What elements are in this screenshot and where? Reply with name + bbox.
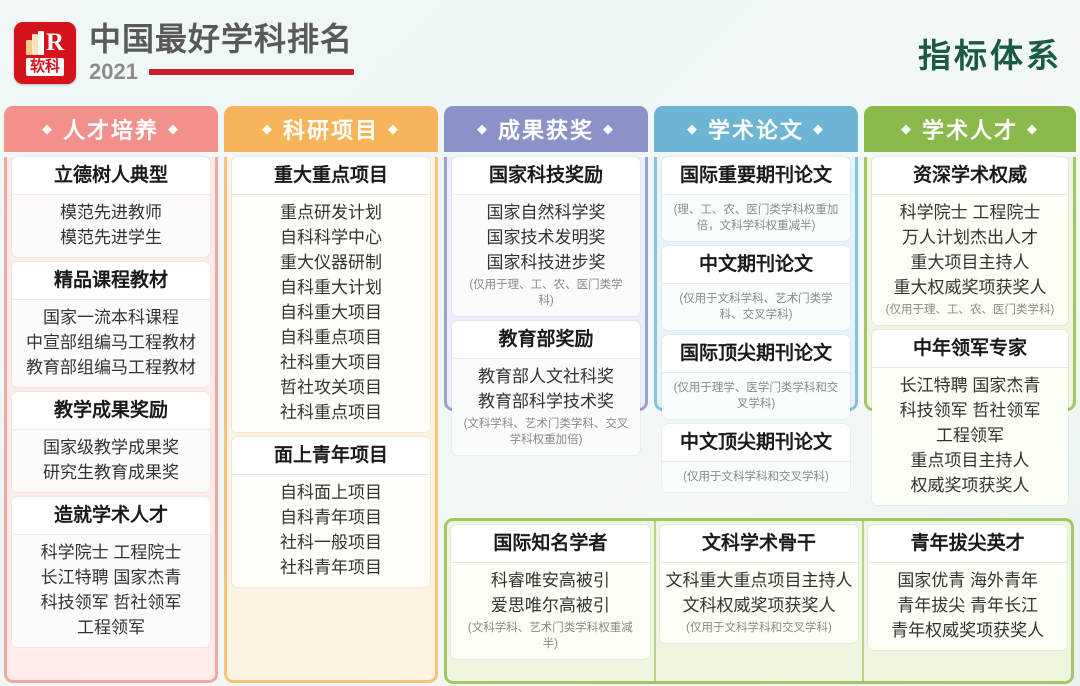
indicator-card[interactable]: 精品课程教材国家一流本科课程中宣部组编马工程教材教育部组编马工程教材 [12,262,210,387]
indicator-item: 重大仪器研制 [236,250,426,275]
indicator-note: (仅用于文科学科和交叉学科) [666,467,846,485]
indicator-item: 青年拔尖 青年长江 [872,593,1063,618]
indicator-card[interactable]: 文科学术骨干文科重大重点项目主持人文科权威奖项获奖人(仅用于文科学科和交叉学科) [660,525,859,643]
indicator-item: 重大权威奖项获奖人 [876,275,1064,300]
indicator-card[interactable]: 资深学术权威科学院士 工程院士万人计划杰出人才重大项目主持人重大权威奖项获奖人(… [872,157,1068,325]
indicator-card[interactable]: 中文期刊论文(仅用于文科学科、艺术门类学科、交叉学科) [662,246,850,330]
indicator-card-title: 国际知名学者 [451,525,650,562]
indicator-card-body: (仅用于文科学科、艺术门类学科、交叉学科) [662,283,850,330]
logo-chinese-name: 软科 [26,58,64,76]
indicator-item: 重大项目主持人 [876,250,1064,275]
indicator-card-body: 科睿唯安高被引爱思唯尔高被引(文科学科、艺术门类学科权重减半) [451,562,650,659]
diamond-icon: ◆ [388,121,400,137]
indicator-item: 国家优青 海外青年 [872,568,1063,593]
indicator-card-body: (仅用于理学、医学门类学科和交叉学科) [662,372,850,419]
indicator-item: 研究生教育成果奖 [16,460,206,485]
indicator-item: 国家一流本科课程 [16,305,206,330]
diamond-icon: ◆ [42,121,54,137]
indicator-item: 科技领军 哲社领军 [16,590,206,615]
indicator-card-title: 造就学术人才 [12,497,210,534]
diamond-icon: ◆ [1027,121,1039,137]
indicator-note: (理、工、农、医门类学科权重加倍，文科学科权重减半) [666,200,846,234]
indicator-card-title: 教育部奖励 [452,321,640,358]
indicator-item: 教育部人文社科奖 [456,364,636,389]
indicator-card-body: 模范先进教师模范先进学生 [12,194,210,257]
diamond-icon: ◆ [477,121,489,137]
indicator-note: (仅用于理学、医学门类学科和交叉学科) [666,378,846,412]
indicator-card-body: 国家级教学成果奖研究生教育成果奖 [12,429,210,492]
indicator-card-body: 文科重大重点项目主持人文科权威奖项获奖人(仅用于文科学科和交叉学科) [660,562,859,643]
indicator-card[interactable]: 重大重点项目重点研发计划自科科学中心重大仪器研制自科重大计划自科重大项目自科重点… [232,157,430,432]
indicator-item: 教育部组编马工程教材 [16,355,206,380]
indicator-card-title: 文科学术骨干 [660,525,859,562]
indicator-card-body: 自科面上项目自科青年项目社科一般项目社科青年项目 [232,474,430,587]
diamond-icon: ◆ [603,121,615,137]
bottom-cell-liberal-arts-backbone: 文科学术骨干文科重大重点项目主持人文科权威奖项获奖人(仅用于文科学科和交叉学科) [654,521,863,681]
indicator-item: 爱思唯尔高被引 [455,593,646,618]
indicator-card-body: 长江特聘 国家杰青科技领军 哲社领军工程领军重点项目主持人权威奖项获奖人 [872,367,1068,505]
indicator-card[interactable]: 立德树人典型模范先进教师模范先进学生 [12,157,210,257]
page-header: R 软科 中国最好学科排名 2021 指标体系 [0,0,1080,106]
indicator-note: (仅用于文科学科、艺术门类学科、交叉学科) [666,289,846,323]
column-header-label: 成果获奖 [498,113,594,145]
indicator-card[interactable]: 中文顶尖期刊论文(仅用于文科学科和交叉学科) [662,424,850,492]
indicator-card[interactable]: 青年拔尖英才国家优青 海外青年青年拔尖 青年长江青年权威奖项获奖人 [868,525,1067,650]
column-header-label: 科研项目 [283,113,379,145]
shanghairanking-logo-icon: R 软科 [14,22,76,84]
diamond-icon: ◆ [813,121,825,137]
indicator-item: 自科青年项目 [236,505,426,530]
indicator-item: 工程领军 [16,615,206,640]
indicator-card[interactable]: 教学成果奖励国家级教学成果奖研究生教育成果奖 [12,392,210,492]
diamond-icon: ◆ [901,121,913,137]
logo-letter: R [46,31,64,55]
indicator-column-award-achievements: ◆成果获奖◆国家科技奖励国家自然科学奖国家技术发明奖国家科技进步奖(仅用于理、工… [444,106,648,411]
column-header-academic-talent[interactable]: ◆学术人才◆ [864,106,1076,152]
indicator-card-title: 重大重点项目 [232,157,430,194]
indicator-card-title: 立德树人典型 [12,157,210,194]
indicator-card-body: (仅用于文科学科和交叉学科) [662,461,850,492]
indicator-card-body: 国家自然科学奖国家技术发明奖国家科技进步奖(仅用于理、工、农、医门类学科) [452,194,640,316]
indicator-column-academic-talent: ◆学术人才◆资深学术权威科学院士 工程院士万人计划杰出人才重大项目主持人重大权威… [864,106,1076,411]
bottom-cell-young-elite: 青年拔尖英才国家优青 海外青年青年拔尖 青年长江青年权威奖项获奖人 [862,521,1071,681]
column-header-label: 人才培养 [63,113,159,145]
column-header-talent-cultivation[interactable]: ◆人才培养◆ [4,106,218,152]
indicator-card-body: 重点研发计划自科科学中心重大仪器研制自科重大计划自科重大项目自科重点项目社科重大… [232,194,430,432]
indicator-card[interactable]: 国际顶尖期刊论文(仅用于理学、医学门类学科和交叉学科) [662,335,850,419]
indicator-card[interactable]: 面上青年项目自科面上项目自科青年项目社科一般项目社科青年项目 [232,437,430,587]
indicator-column-talent-cultivation: ◆人才培养◆立德树人典型模范先进教师模范先进学生精品课程教材国家一流本科课程中宣… [4,106,218,683]
indicator-card[interactable]: 国际知名学者科睿唯安高被引爱思唯尔高被引(文科学科、艺术门类学科权重减半) [451,525,650,659]
indicator-card-title: 中文顶尖期刊论文 [662,424,850,461]
section-title: 指标体系 [918,29,1062,77]
indicator-item: 科睿唯安高被引 [455,568,646,593]
indicator-card-title: 面上青年项目 [232,437,430,474]
column-panel-research-projects: 重大重点项目重点研发计划自科科学中心重大仪器研制自科重大计划自科重大项目自科重点… [224,157,438,683]
indicator-card-title: 中年领军专家 [872,330,1068,367]
indicator-item: 社科青年项目 [236,555,426,580]
column-header-award-achievements[interactable]: ◆成果获奖◆ [444,106,648,152]
bottom-cell-international-scholars: 国际知名学者科睿唯安高被引爱思唯尔高被引(文科学科、艺术门类学科权重减半) [447,521,654,681]
indicator-card-body: 科学院士 工程院士万人计划杰出人才重大项目主持人重大权威奖项获奖人(仅用于理、工… [872,194,1068,325]
indicator-item: 长江特聘 国家杰青 [16,565,206,590]
indicator-item: 国家级教学成果奖 [16,435,206,460]
page-title: 中国最好学科排名 [89,21,354,57]
indicator-card-title: 国际顶尖期刊论文 [662,335,850,372]
indicator-item: 国家自然科学奖 [456,200,636,225]
indicator-card-body: 科学院士 工程院士长江特聘 国家杰青科技领军 哲社领军工程领军 [12,534,210,647]
indicator-board: ◆人才培养◆立德树人典型模范先进教师模范先进学生精品课程教材国家一流本科课程中宣… [0,106,1080,686]
indicator-item: 国家科技进步奖 [456,250,636,275]
indicator-item: 教育部科学技术奖 [456,389,636,414]
indicator-card[interactable]: 中年领军专家长江特聘 国家杰青科技领军 哲社领军工程领军重点项目主持人权威奖项获… [872,330,1068,505]
indicator-item: 哲社攻关项目 [236,375,426,400]
diamond-icon: ◆ [262,121,274,137]
indicator-item: 中宣部组编马工程教材 [16,330,206,355]
column-header-label: 学术人才 [922,113,1018,145]
indicator-card-body: 国家一流本科课程中宣部组编马工程教材教育部组编马工程教材 [12,299,210,387]
indicator-item: 模范先进学生 [16,225,206,250]
indicator-card[interactable]: 国家科技奖励国家自然科学奖国家技术发明奖国家科技进步奖(仅用于理、工、农、医门类… [452,157,640,316]
indicator-item: 国家技术发明奖 [456,225,636,250]
brand-logo: R 软科 中国最好学科排名 2021 [14,21,354,85]
title-year: 2021 [89,59,138,85]
indicator-item: 自科面上项目 [236,480,426,505]
bottom-indicator-band: 国际知名学者科睿唯安高被引爱思唯尔高被引(文科学科、艺术门类学科权重减半)文科学… [444,518,1074,684]
indicator-note: (文科学科、艺术门类学科、交叉学科权重加倍) [456,414,636,448]
indicator-note: (文科学科、艺术门类学科权重减半) [455,618,646,652]
indicator-item: 科学院士 工程院士 [876,200,1064,225]
column-header-academic-papers[interactable]: ◆学术论文◆ [654,106,858,152]
indicator-card-body: 国家优青 海外青年青年拔尖 青年长江青年权威奖项获奖人 [868,562,1067,650]
indicator-item: 长江特聘 国家杰青 [876,373,1064,398]
indicator-item: 科学院士 工程院士 [16,540,206,565]
indicator-item: 文科重大重点项目主持人 [664,568,855,593]
title-block: 中国最好学科排名 2021 [89,21,354,85]
indicator-item: 重点研发计划 [236,200,426,225]
indicator-card-title: 国家科技奖励 [452,157,640,194]
indicator-item: 自科重大计划 [236,275,426,300]
indicator-note: (仅用于理、工、农、医门类学科) [876,300,1064,318]
indicator-column-academic-papers: ◆学术论文◆国际重要期刊论文(理、工、农、医门类学科权重加倍，文科学科权重减半)… [654,106,858,411]
indicator-item: 模范先进教师 [16,200,206,225]
column-panel-academic-talent: 资深学术权威科学院士 工程院士万人计划杰出人才重大项目主持人重大权威奖项获奖人(… [864,157,1076,411]
column-panel-award-achievements: 国家科技奖励国家自然科学奖国家技术发明奖国家科技进步奖(仅用于理、工、农、医门类… [444,157,648,411]
indicator-item: 青年权威奖项获奖人 [872,618,1063,643]
indicator-card-body: 教育部人文社科奖教育部科学技术奖(文科学科、艺术门类学科、交叉学科权重加倍) [452,358,640,455]
indicator-item: 重点项目主持人 [876,448,1064,473]
indicator-card-title: 青年拔尖英才 [868,525,1067,562]
indicator-item: 文科权威奖项获奖人 [664,593,855,618]
column-panel-academic-papers: 国际重要期刊论文(理、工、农、医门类学科权重加倍，文科学科权重减半)中文期刊论文… [654,157,858,411]
column-header-research-projects[interactable]: ◆科研项目◆ [224,106,438,152]
indicator-card[interactable]: 造就学术人才科学院士 工程院士长江特聘 国家杰青科技领军 哲社领军工程领军 [12,497,210,647]
title-rule [149,69,354,75]
indicator-card-title: 中文期刊论文 [662,246,850,283]
indicator-item: 自科科学中心 [236,225,426,250]
logo-bars: R [26,31,64,55]
indicator-item: 工程领军 [876,423,1064,448]
title-subrow: 2021 [89,59,354,85]
indicator-card[interactable]: 教育部奖励教育部人文社科奖教育部科学技术奖(文科学科、艺术门类学科、交叉学科权重… [452,321,640,455]
indicator-card[interactable]: 国际重要期刊论文(理、工、农、医门类学科权重加倍，文科学科权重减半) [662,157,850,241]
indicator-card-title: 教学成果奖励 [12,392,210,429]
diamond-icon: ◆ [687,121,699,137]
column-panel-talent-cultivation: 立德树人典型模范先进教师模范先进学生精品课程教材国家一流本科课程中宣部组编马工程… [4,157,218,683]
indicator-card-title: 资深学术权威 [872,157,1068,194]
indicator-item: 自科重大项目 [236,300,426,325]
indicator-item: 自科重点项目 [236,325,426,350]
indicator-item: 万人计划杰出人才 [876,225,1064,250]
indicator-item: 科技领军 哲社领军 [876,398,1064,423]
indicator-note: (仅用于理、工、农、医门类学科) [456,275,636,309]
indicator-card-body: (理、工、农、医门类学科权重加倍，文科学科权重减半) [662,194,850,241]
indicator-card-title: 精品课程教材 [12,262,210,299]
indicator-card-title: 国际重要期刊论文 [662,157,850,194]
indicator-item: 社科重大项目 [236,350,426,375]
indicator-item: 社科重点项目 [236,400,426,425]
indicator-item: 社科一般项目 [236,530,426,555]
column-header-label: 学术论文 [708,113,804,145]
logo-bar-3 [38,31,44,55]
indicator-column-research-projects: ◆科研项目◆重大重点项目重点研发计划自科科学中心重大仪器研制自科重大计划自科重大… [224,106,438,683]
diamond-icon: ◆ [168,121,180,137]
indicator-item: 权威奖项获奖人 [876,473,1064,498]
indicator-note: (仅用于文科学科和交叉学科) [664,618,855,636]
